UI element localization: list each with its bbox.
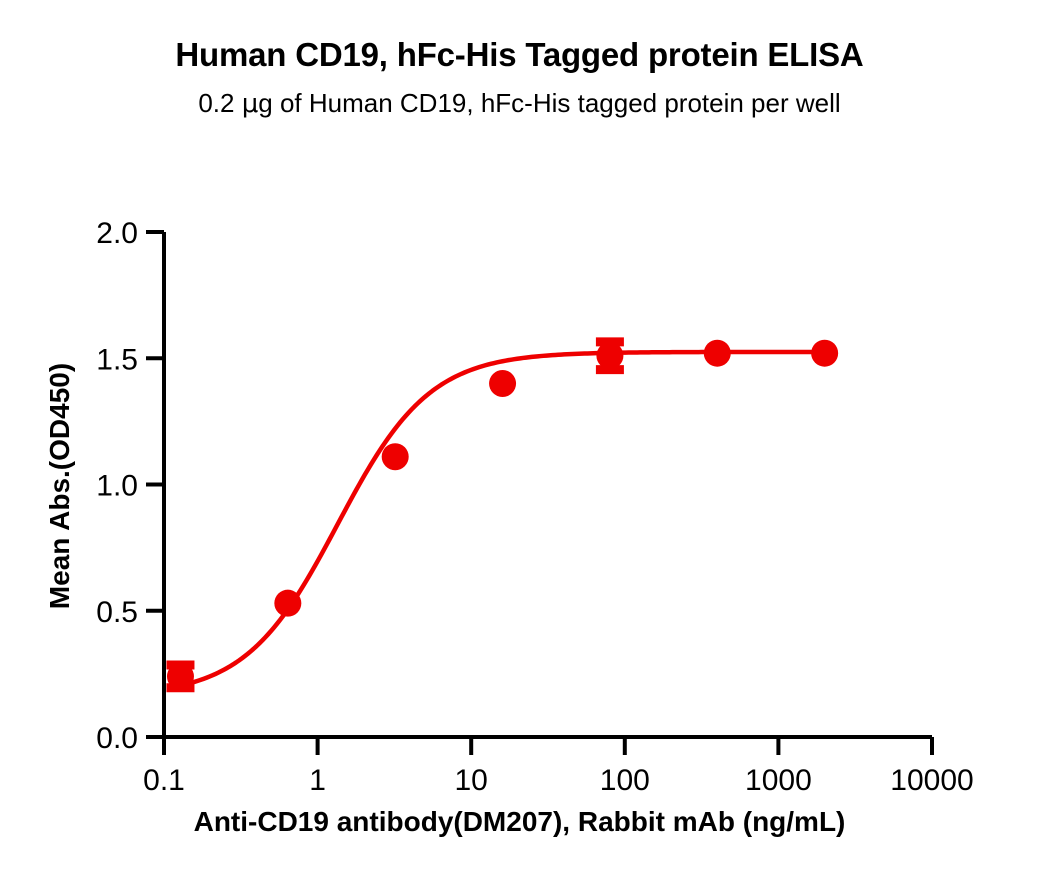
x-tick-label: 10000 (890, 764, 973, 797)
x-tick-group: 0.1110100100010000 (143, 737, 974, 797)
x-tick-label: 1 (309, 764, 326, 797)
y-tick-group: 0.00.51.01.52.0 (96, 217, 164, 755)
x-tick-label: 10 (455, 764, 488, 797)
axes (164, 232, 932, 737)
data-point-marker (167, 663, 194, 690)
x-tick-label: 1000 (745, 764, 812, 797)
x-tick-label: 0.1 (143, 764, 185, 797)
data-point-marker (489, 370, 516, 397)
data-point-marker (382, 443, 409, 470)
fit-curve-group (180, 352, 824, 686)
y-tick-label: 0.5 (96, 596, 138, 629)
y-tick-label: 0.0 (96, 722, 138, 755)
x-tick-label: 100 (600, 764, 650, 797)
fit-curve-line (180, 352, 824, 686)
error-bar-group (166, 342, 623, 688)
data-point-marker (811, 340, 838, 367)
y-tick-label: 1.0 (96, 470, 138, 503)
x-axis-title: Anti-CD19 antibody(DM207), Rabbit mAb (n… (0, 806, 1039, 838)
y-axis-title: Mean Abs.(OD450) (44, 276, 76, 696)
data-point-marker (596, 342, 623, 369)
y-tick-label: 2.0 (96, 217, 138, 250)
data-point-marker (704, 340, 731, 367)
elisa-chart-figure: Human CD19, hFc-His Tagged protein ELISA… (0, 0, 1039, 886)
plot-area: 0.00.51.01.52.0 0.1110100100010000 (0, 0, 1039, 886)
data-point-marker (274, 590, 301, 617)
y-tick-label: 1.5 (96, 343, 138, 376)
